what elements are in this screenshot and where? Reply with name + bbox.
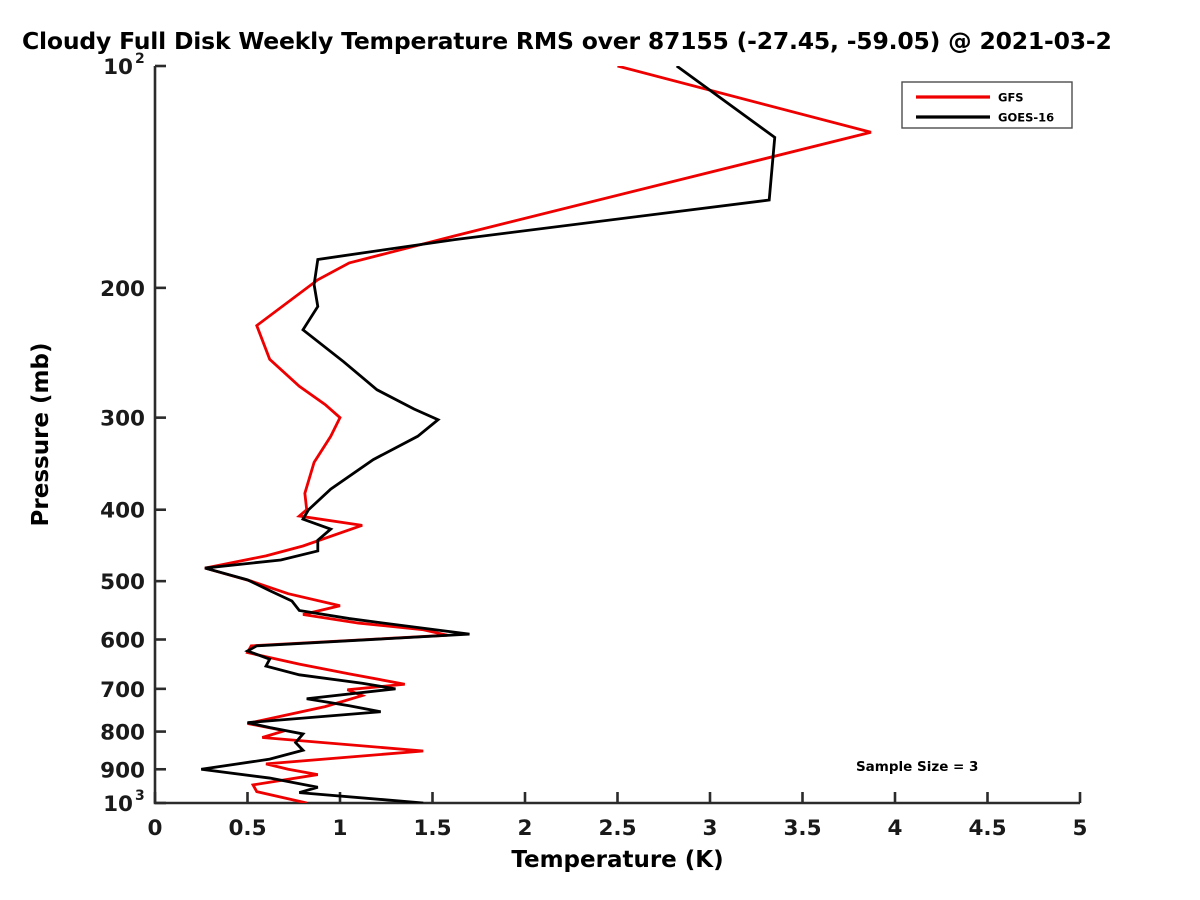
y-tick-label-exponent: 2 [135, 51, 145, 67]
chart-page: Cloudy Full Disk Weekly Temperature RMS … [0, 0, 1200, 900]
data-series-layer [201, 66, 871, 803]
x-tick-label: 2.5 [598, 816, 636, 841]
x-axis-title: Temperature (K) [511, 847, 723, 873]
x-tick-label: 4.5 [968, 816, 1006, 841]
x-tick-label: 2 [518, 816, 533, 841]
x-tick-label: 3.5 [783, 816, 821, 841]
axis-frame [155, 66, 1080, 803]
y-tick-label: 900 [100, 758, 145, 783]
y-tick-label: 600 [100, 628, 145, 653]
y-axis-title: Pressure (mb) [28, 343, 54, 527]
y-tick-label: 500 [100, 570, 145, 595]
x-tick-label: 5 [1073, 816, 1088, 841]
x-tick-label: 1.5 [413, 816, 451, 841]
annotations-layer: Sample Size = 3 [856, 759, 979, 775]
y-tick-label: 800 [100, 721, 145, 746]
legend-label-goes-16: GOES-16 [998, 111, 1054, 125]
y-tick-label: 200 [100, 277, 145, 302]
plot-area: 00.511.522.533.544.551022003004005006007… [0, 0, 1200, 900]
y-tick-label: 700 [100, 678, 145, 703]
x-tick-label: 3 [703, 816, 718, 841]
sample-size-annotation: Sample Size = 3 [856, 759, 979, 775]
y-tick-label-base: 10 [103, 55, 133, 80]
chart-legend: GFSGOES-16 [902, 82, 1072, 128]
x-tick-label: 1 [333, 816, 348, 841]
x-tick-label: 0.5 [228, 816, 266, 841]
axes: 00.511.522.533.544.551022003004005006007… [28, 51, 1087, 873]
y-tick-label-exponent: 3 [135, 788, 145, 804]
x-tick-label: 0 [148, 816, 163, 841]
x-tick-label: 4 [888, 816, 903, 841]
y-tick-label: 103 [103, 788, 145, 817]
y-tick-label: 300 [100, 407, 145, 432]
y-tick-label-base: 10 [103, 792, 133, 817]
y-tick-label: 102 [103, 51, 145, 80]
y-tick-label: 400 [100, 499, 145, 524]
legend-label-gfs: GFS [998, 91, 1024, 105]
